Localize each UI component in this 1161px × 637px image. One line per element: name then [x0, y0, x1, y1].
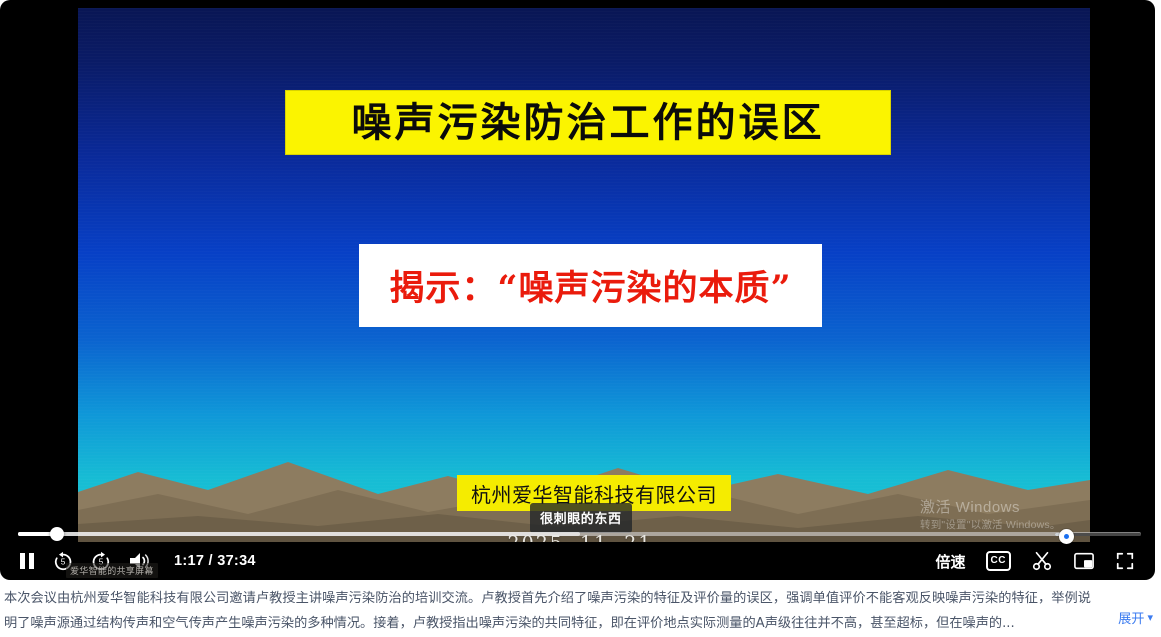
pause-button[interactable]: [18, 551, 36, 571]
time-display: 1:17 / 37:34: [174, 553, 256, 569]
video-player-page: 噪声污染防治工作的误区 揭示：“噪声污染的本质” 杭州爱华智能科技有限公司 20…: [0, 0, 1161, 637]
playback-speed-button[interactable]: 倍速: [936, 551, 966, 572]
slide-subtitle: 揭示：“噪声污染的本质”: [389, 260, 791, 311]
progress-bar[interactable]: [18, 527, 1141, 541]
picture-in-picture-icon[interactable]: [1073, 551, 1095, 571]
controls-right-group: 倍速 CC: [936, 550, 1155, 572]
meeting-summary-panel: 本次会议由杭州爱华智能科技有限公司邀请卢教授主讲噪声污染防治的培训交流。卢教授首…: [0, 586, 1161, 637]
slide-title: 噪声污染防治工作的误区: [352, 103, 825, 143]
chevron-down-icon: ▾: [1147, 612, 1153, 623]
closed-captions-button[interactable]: CC: [986, 551, 1011, 571]
svg-text:5: 5: [61, 558, 66, 567]
volume-slider[interactable]: [1055, 529, 1141, 540]
slide-subtitle-box: 揭示：“噪声污染的本质”: [359, 244, 822, 327]
expand-summary-label: 展开: [1118, 608, 1144, 627]
video-player-shell[interactable]: 噪声污染防治工作的误区 揭示：“噪声污染的本质” 杭州爱华智能科技有限公司 20…: [0, 0, 1155, 580]
player-control-bar: 5 5 1:17 / 3: [0, 542, 1155, 580]
clip-scissors-icon[interactable]: [1031, 550, 1053, 572]
screen-share-watermark: 爱华智能的共享屏幕: [66, 563, 158, 578]
fullscreen-icon[interactable]: [1115, 551, 1135, 571]
video-stage[interactable]: 噪声污染防治工作的误区 揭示：“噪声污染的本质” 杭州爱华智能科技有限公司 20…: [78, 8, 1090, 542]
progress-handle[interactable]: [50, 527, 64, 541]
progress-buffered: [18, 532, 580, 536]
meeting-summary-text: 本次会议由杭州爱华智能科技有限公司邀请卢教授主讲噪声污染防治的培训交流。卢教授首…: [0, 586, 1161, 636]
slide-title-box: 噪声污染防治工作的误区: [285, 90, 891, 155]
expand-summary-button[interactable]: 展开 ▾: [1108, 608, 1153, 627]
